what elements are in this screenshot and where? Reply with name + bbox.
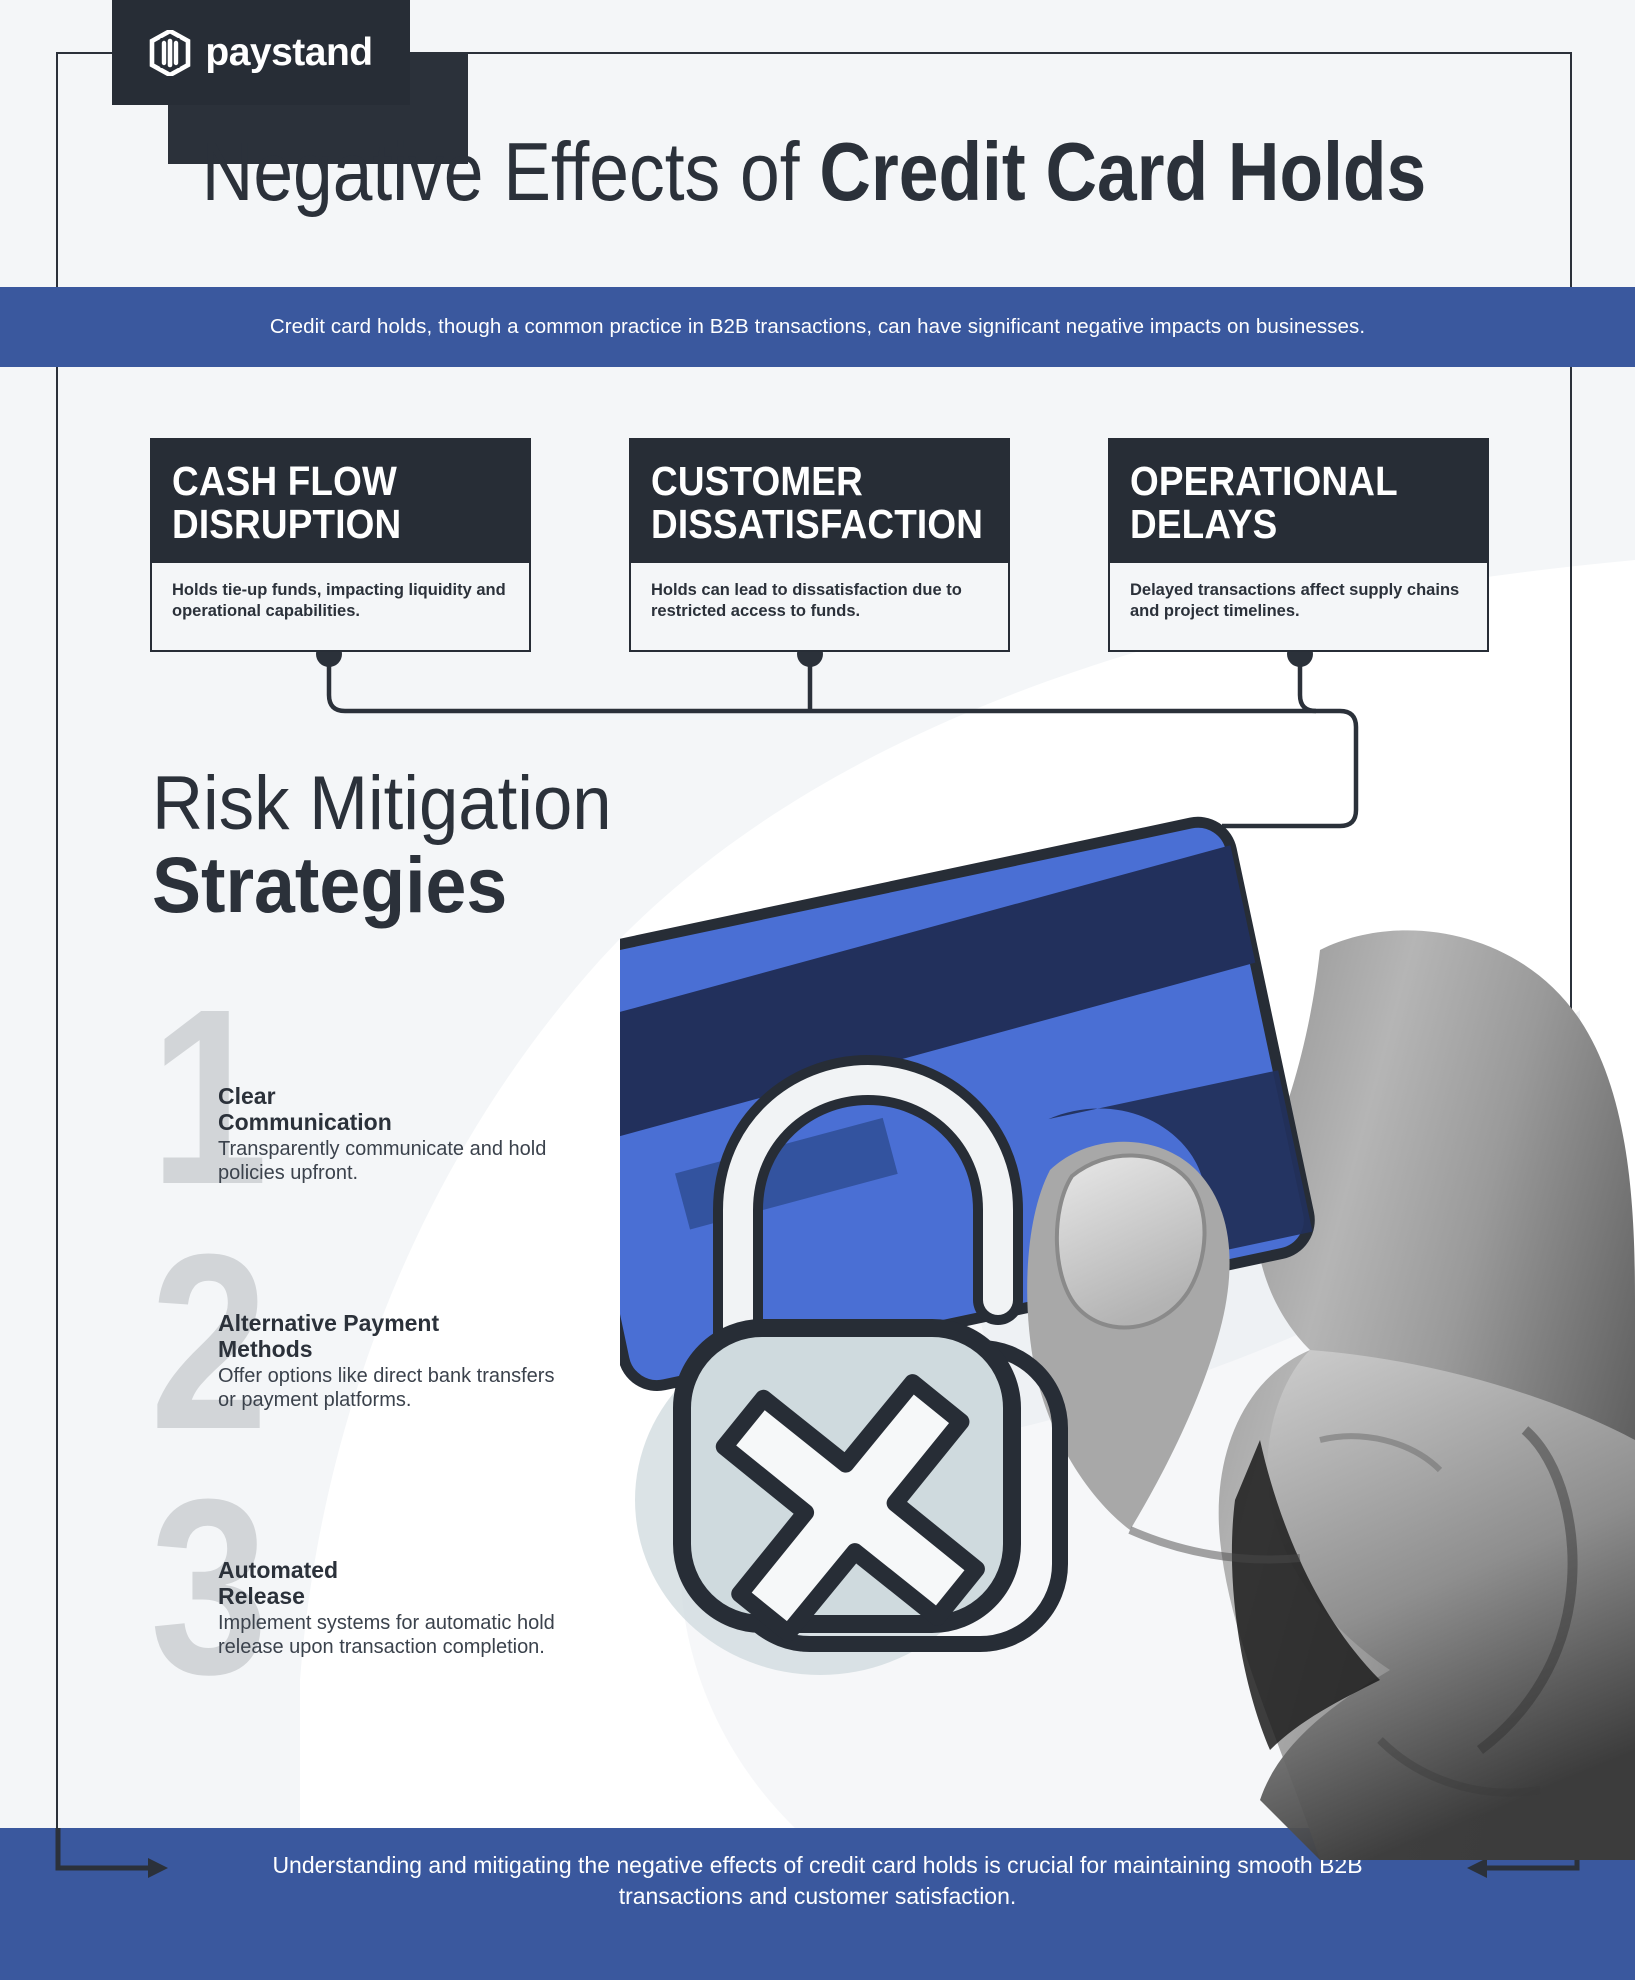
effect-card-header: CASH FLOW DISRUPTION [150, 438, 531, 563]
effect-card-description: Delayed transactions affect supply chain… [1130, 580, 1467, 622]
effect-card-header: OPERATIONAL DELAYS [1108, 438, 1489, 563]
intro-band: Credit card holds, though a common pract… [0, 287, 1635, 367]
effect-card: CASH FLOW DISRUPTION Holds tie-up funds,… [150, 438, 531, 652]
effect-card: CUSTOMER DISSATISFACTION Holds can lead … [629, 438, 1010, 652]
strategy-description: Transparently communicate and hold polic… [218, 1137, 558, 1185]
effect-card-title: OPERATIONAL DELAYS [1130, 460, 1433, 547]
effect-card-description: Holds can lead to dissatisfaction due to… [651, 580, 988, 622]
arrow-head-left-icon [1467, 1858, 1487, 1878]
effect-card-body: Holds can lead to dissatisfaction due to… [629, 563, 1010, 652]
strategy-title: Automated Release [218, 1557, 558, 1610]
section-heading-line-1: Risk Mitigation [152, 768, 612, 841]
section-heading-line-2: Strategies [152, 845, 612, 924]
brand-logo-chip: paystand [112, 0, 410, 105]
effect-card-header: CUSTOMER DISSATISFACTION [629, 438, 1010, 563]
arrow-head-right-icon [148, 1858, 168, 1878]
page-title-regular: Negative Effects of [202, 125, 820, 218]
strategy-content: Automated Release Implement systems for … [218, 1557, 558, 1659]
effect-cards-row: CASH FLOW DISRUPTION Holds tie-up funds,… [150, 438, 1490, 652]
strategy-description: Offer options like direct bank transfers… [218, 1364, 558, 1412]
page-title-bold: Credit Card Holds [819, 125, 1426, 218]
section-heading: Risk Mitigation Strategies [152, 768, 646, 924]
intro-band-text: Credit card holds, though a common pract… [270, 315, 1365, 339]
strategy-title: Alternative Payment Methods [218, 1310, 558, 1363]
strategy-title: Clear Communication [218, 1083, 558, 1136]
strategy-item: 3 Automated Release Implement systems fo… [150, 1495, 570, 1740]
effect-card-description: Holds tie-up funds, impacting liquidity … [172, 580, 509, 622]
effect-card-title: CASH FLOW DISRUPTION [172, 460, 475, 547]
strategy-content: Alternative Payment Methods Offer option… [218, 1310, 558, 1412]
strategy-description: Implement systems for automatic hold rel… [218, 1611, 558, 1659]
infographic-poster: paystand Negative Effects of Credit Card… [0, 0, 1635, 1980]
page-title: Negative Effects of Credit Card Holds [56, 130, 1572, 213]
paystand-hexagon-logo-icon [149, 30, 191, 76]
brand-name: paystand [205, 33, 372, 72]
hand-card-lock-illustration [620, 740, 1635, 1860]
strategy-list: 1 Clear Communication Transparently comm… [150, 1005, 570, 1740]
effect-card-title: CUSTOMER DISSATISFACTION [651, 460, 954, 547]
effect-card: OPERATIONAL DELAYS Delayed transactions … [1108, 438, 1489, 652]
effect-card-body: Holds tie-up funds, impacting liquidity … [150, 563, 531, 652]
effect-card-body: Delayed transactions affect supply chain… [1108, 563, 1489, 652]
strategy-content: Clear Communication Transparently commun… [218, 1083, 558, 1185]
